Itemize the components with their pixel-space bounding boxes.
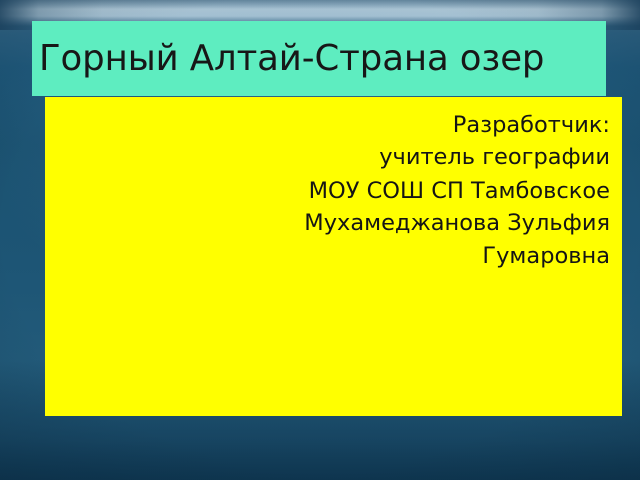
- slide-body-box: Разработчик: учитель географии МОУ СОШ С…: [45, 97, 622, 416]
- slide-title-banner: Горный Алтай-Страна озер: [32, 21, 606, 96]
- presentation-slide: Горный Алтай-Страна озер Разработчик: уч…: [0, 0, 640, 480]
- body-line-school: МОУ СОШ СП Тамбовское: [59, 175, 610, 207]
- body-line-role: учитель географии: [59, 141, 610, 173]
- body-line-author-name: Мухамеджанова Зульфия: [59, 207, 610, 239]
- slide-title: Горный Алтай-Страна озер: [39, 40, 544, 77]
- body-line-developer-label: Разработчик:: [59, 109, 610, 141]
- body-line-author-patronymic: Гумаровна: [59, 240, 610, 272]
